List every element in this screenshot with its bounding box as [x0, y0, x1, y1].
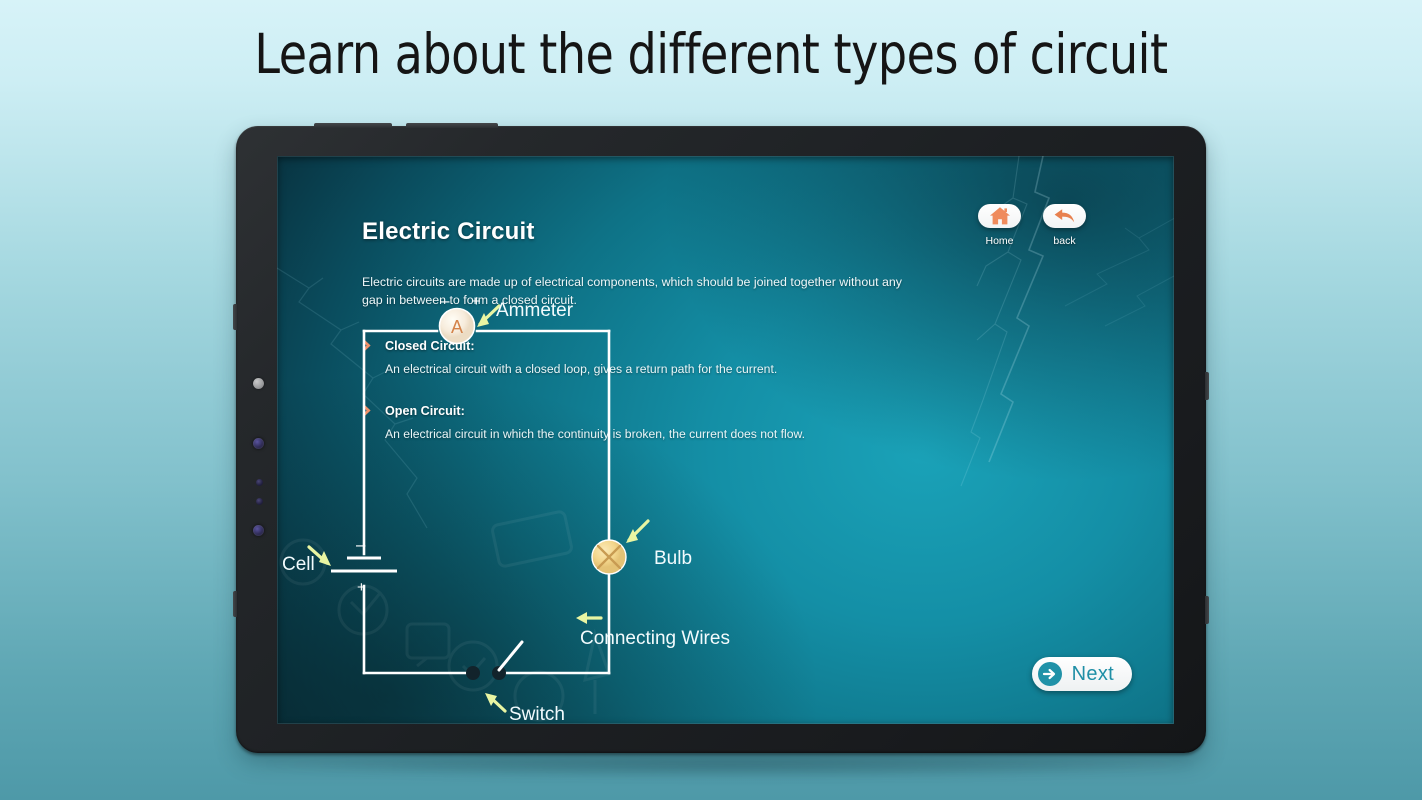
- cell-symbol: [331, 558, 397, 571]
- lesson-content: Electric Circuit Electric circuits are m…: [277, 156, 1174, 724]
- left-button-nub-1[interactable]: [233, 304, 237, 330]
- ammeter-positive-mark: +: [472, 293, 481, 310]
- next-button[interactable]: Next: [1032, 657, 1132, 691]
- label-cell: Cell: [282, 554, 315, 575]
- sensor-dot-small-icon: [256, 498, 263, 505]
- page-headline: Learn about the different types of circu…: [50, 22, 1372, 86]
- sensor-dot-small-icon: [256, 479, 263, 486]
- ammeter-letter: A: [451, 317, 463, 337]
- tablet-device: Electric Circuit Electric circuits are m…: [236, 126, 1206, 753]
- label-connecting-wires: Connecting Wires: [580, 628, 730, 649]
- right-button-nub-2[interactable]: [1205, 596, 1209, 624]
- callout-arrows: [309, 306, 648, 711]
- label-switch: Switch: [509, 704, 565, 724]
- label-bulb: Bulb: [654, 548, 692, 569]
- circuit-wires: [364, 331, 609, 673]
- next-button-label: Next: [1072, 663, 1114, 686]
- tablet-screen: Electric Circuit Electric circuits are m…: [277, 156, 1174, 724]
- cell-positive-mark: +: [357, 579, 366, 596]
- sensor-dot-icon: [253, 438, 264, 449]
- tablet-shadow: [265, 752, 1195, 778]
- ammeter-negative-mark: –: [440, 291, 450, 310]
- front-camera-icon: [253, 378, 264, 389]
- left-button-nub-2[interactable]: [233, 591, 237, 617]
- top-button-nub-1[interactable]: [314, 123, 392, 128]
- arrow-right-circle-icon: [1037, 661, 1063, 687]
- top-button-nub-2[interactable]: [406, 123, 498, 128]
- sensor-dot-icon: [253, 525, 264, 536]
- right-button-nub-1[interactable]: [1205, 372, 1209, 400]
- bulb-symbol: [592, 540, 626, 574]
- label-ammeter: Ammeter: [496, 300, 574, 321]
- circuit-diagram: – + – + A Ammeter Bulb Cell Connecting W…: [277, 156, 1174, 724]
- cell-negative-mark: –: [356, 535, 366, 554]
